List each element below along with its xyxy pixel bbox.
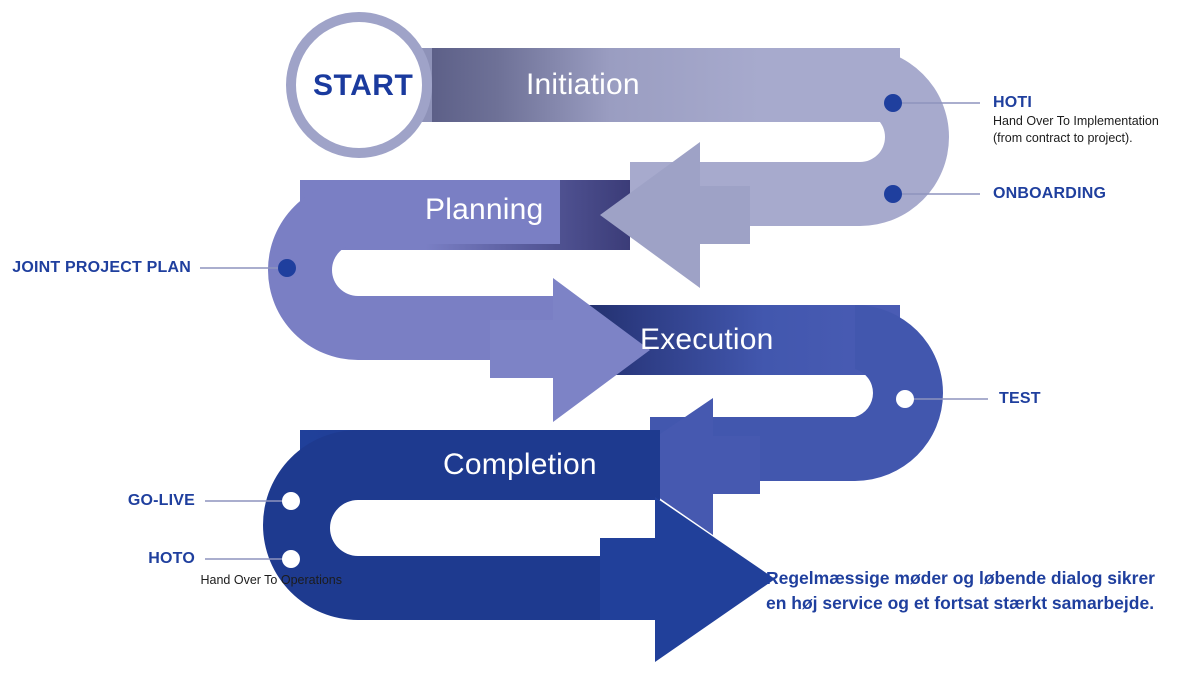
closing-statement-line-1: Regelmæssige møder og løbende dialog sik… xyxy=(766,566,1155,591)
diagram-canvas: START Initiation Planning Execution Comp… xyxy=(0,0,1200,679)
callout-joint-project-plan-title: JOINT PROJECT PLAN xyxy=(12,258,191,278)
callout-go-live-title: GO-LIVE xyxy=(128,491,195,511)
marker-dot-hoto xyxy=(282,550,300,568)
phase-label-completion: Completion xyxy=(443,448,597,482)
marker-dot-joint-project-plan xyxy=(278,259,296,277)
callout-test: TEST xyxy=(999,389,1041,409)
marker-dot-test xyxy=(896,390,914,408)
band-initiation xyxy=(432,48,900,122)
callout-hoto: HOTO Hand Over To Operations xyxy=(148,549,195,569)
marker-dot-onboarding xyxy=(884,185,902,203)
callout-hoti-desc-line-2: (from contract to project). xyxy=(993,130,1159,147)
marker-dot-go-live xyxy=(282,492,300,510)
phase-label-initiation: Initiation xyxy=(526,68,640,102)
callout-hoti-title: HOTI xyxy=(993,93,1159,113)
marker-dot-hoti xyxy=(884,94,902,112)
phase-label-planning: Planning xyxy=(425,193,543,227)
callout-onboarding-title: ONBOARDING xyxy=(993,184,1106,204)
arrow-final-outcome xyxy=(600,497,775,662)
phase-label-execution: Execution xyxy=(640,323,774,357)
callout-joint-project-plan: JOINT PROJECT PLAN xyxy=(12,258,191,278)
callout-hoti: HOTI Hand Over To Implementation (from c… xyxy=(993,93,1159,147)
closing-statement-line-2: en høj service og et fortsat stærkt sama… xyxy=(766,591,1155,616)
callout-onboarding: ONBOARDING xyxy=(993,184,1106,204)
callout-hoto-title: HOTO xyxy=(148,549,195,569)
callout-hoti-desc-line-1: Hand Over To Implementation xyxy=(993,113,1159,130)
callout-go-live: GO-LIVE xyxy=(128,491,195,511)
callout-hoto-desc-line-1: Hand Over To Operations xyxy=(200,572,342,589)
start-label: START xyxy=(313,69,413,103)
callout-test-title: TEST xyxy=(999,389,1041,409)
closing-statement: Regelmæssige møder og løbende dialog sik… xyxy=(766,566,1155,617)
